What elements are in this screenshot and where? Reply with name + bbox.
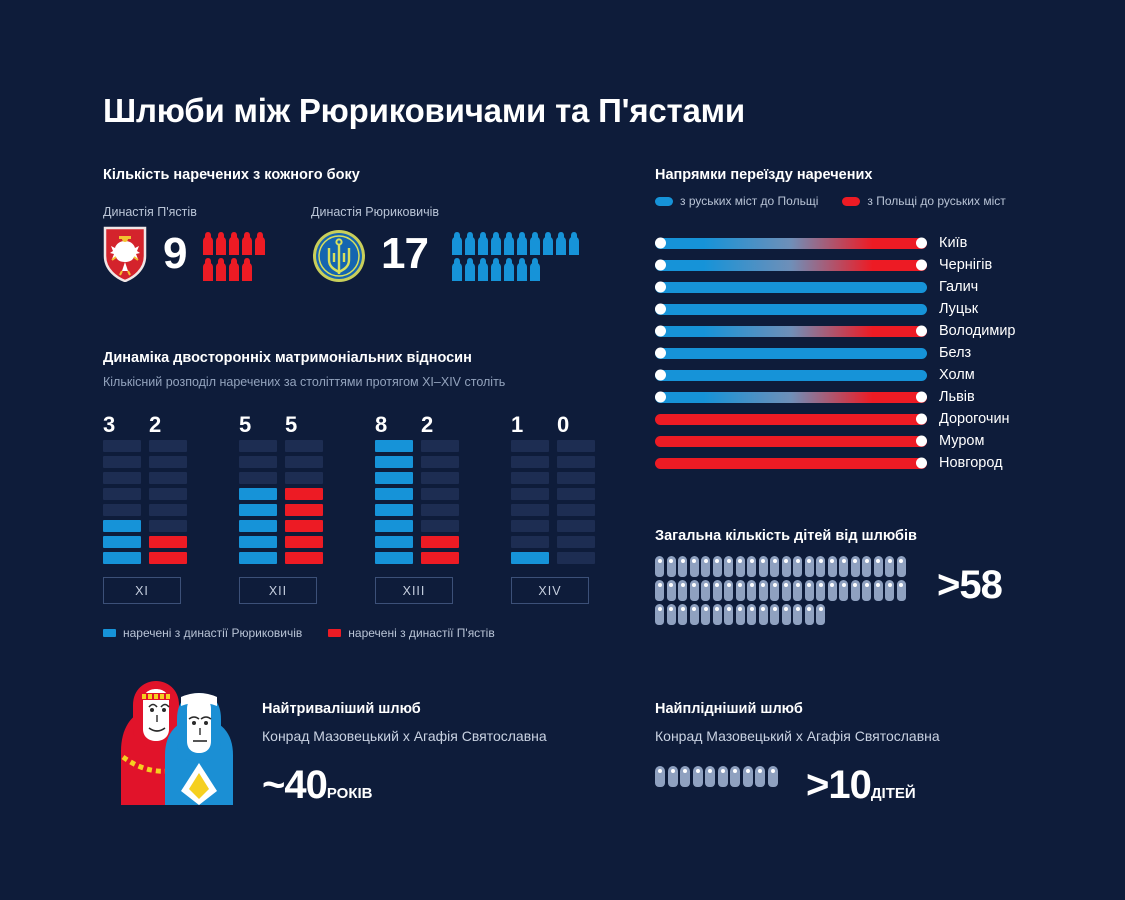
bar-segment xyxy=(103,520,141,532)
child-icon xyxy=(713,580,722,601)
child-icon xyxy=(782,604,791,625)
rurik-figure-pictogram xyxy=(452,232,585,281)
child-icon xyxy=(724,580,733,601)
child-icon xyxy=(736,604,745,625)
direction-bar-both xyxy=(655,326,927,337)
bar-segment xyxy=(149,472,187,484)
bar-segment xyxy=(149,504,187,516)
bar-segment xyxy=(557,472,595,484)
century-value-XII-rurik: 5 xyxy=(239,412,251,438)
bar-segment xyxy=(285,504,323,516)
child-icon xyxy=(816,556,825,577)
rurik-brides-count: 17 xyxy=(381,232,428,276)
child-icon xyxy=(759,604,768,625)
city-row: Львів xyxy=(655,390,975,404)
bride-figure-icon xyxy=(543,232,553,255)
bar-segment xyxy=(103,504,141,516)
century-bar-XIII-rurik xyxy=(375,440,413,564)
fertile-marriage-pictogram xyxy=(655,766,805,787)
bar-segment xyxy=(239,472,277,484)
legend-swatch-blue-icon xyxy=(103,629,116,637)
century-bar-XIV-rurik xyxy=(511,440,549,564)
child-icon xyxy=(793,604,802,625)
child-icon xyxy=(816,604,825,625)
fertile-marriage-value: >10 xyxy=(806,763,871,807)
bride-figure-icon xyxy=(504,258,514,281)
child-icon xyxy=(678,604,687,625)
legend-label-to-poland: з руських міст до Польщі xyxy=(680,194,818,208)
child-icon xyxy=(701,604,710,625)
bar-segment xyxy=(511,456,549,468)
bar-segment xyxy=(557,440,595,452)
child-icon xyxy=(816,580,825,601)
page-title: Шлюби між Рюриковичами та П'ястами xyxy=(103,92,745,130)
city-name: Володимир xyxy=(939,323,1015,339)
century-value-XIV-rurik: 1 xyxy=(511,412,523,438)
fertile-marriage-names: Конрад Мазовецький х Агафія Святославна xyxy=(655,728,940,744)
bar-segment xyxy=(421,488,459,500)
bar-segment xyxy=(421,504,459,516)
child-icon xyxy=(770,556,779,577)
bride-figure-icon xyxy=(216,232,226,255)
century-value-XI-rurik: 3 xyxy=(103,412,115,438)
bar-segment xyxy=(239,440,277,452)
origin-dot-icon xyxy=(655,260,666,271)
bar-segment xyxy=(239,552,277,564)
century-bar-XII-piast xyxy=(285,440,323,564)
city-name: Дорогочин xyxy=(939,411,1010,427)
child-icon xyxy=(736,580,745,601)
city-name: Белз xyxy=(939,345,971,361)
bar-segment xyxy=(421,536,459,548)
child-icon xyxy=(839,556,848,577)
bride-figure-icon xyxy=(465,258,475,281)
bride-figure-icon xyxy=(465,232,475,255)
bar-segment xyxy=(103,472,141,484)
bar-segment xyxy=(103,456,141,468)
bar-segment xyxy=(285,440,323,452)
bar-segment xyxy=(149,440,187,452)
child-icon xyxy=(862,556,871,577)
child-icon xyxy=(713,604,722,625)
child-icon xyxy=(874,580,883,601)
origin-dot-icon xyxy=(655,282,666,293)
bar-segment xyxy=(285,552,323,564)
child-icon xyxy=(755,766,765,787)
bride-figure-icon xyxy=(530,232,540,255)
bar-segment xyxy=(421,440,459,452)
bar-segment xyxy=(149,536,187,548)
bar-segment xyxy=(375,456,413,468)
child-icon xyxy=(655,556,664,577)
origin-dot-icon xyxy=(655,304,666,315)
child-icon xyxy=(782,556,791,577)
royal-couple-illustration xyxy=(103,679,243,810)
dynamics-legend: наречені з династії Рюриковичів наречені… xyxy=(103,626,495,640)
bar-segment xyxy=(103,536,141,548)
child-icon xyxy=(770,580,779,601)
city-row: Галич xyxy=(655,280,978,294)
child-icon xyxy=(805,580,814,601)
bar-segment xyxy=(557,520,595,532)
century-value-XII-piast: 5 xyxy=(285,412,297,438)
bar-segment xyxy=(375,552,413,564)
city-row: Дорогочин xyxy=(655,412,1010,426)
bar-segment xyxy=(375,520,413,532)
destination-dot-icon xyxy=(916,326,927,337)
bar-segment xyxy=(375,472,413,484)
bride-figure-icon xyxy=(478,232,488,255)
longest-marriage-value: ~40 xyxy=(262,763,327,807)
child-icon xyxy=(678,556,687,577)
bride-figure-icon xyxy=(530,258,540,281)
child-icon xyxy=(851,580,860,601)
child-icon xyxy=(667,556,676,577)
city-row: Муром xyxy=(655,434,984,448)
bar-segment xyxy=(375,504,413,516)
city-name: Муром xyxy=(939,433,984,449)
direction-bar-both xyxy=(655,238,927,249)
direction-bar-from-poland xyxy=(655,436,927,447)
bride-figure-icon xyxy=(203,232,213,255)
child-icon xyxy=(805,604,814,625)
bride-figure-icon xyxy=(478,258,488,281)
fertile-marriage-stat: >10ДІТЕЙ xyxy=(806,763,916,808)
child-icon xyxy=(743,766,753,787)
legend-swatch-red-icon xyxy=(328,629,341,637)
child-icon xyxy=(885,580,894,601)
child-icon xyxy=(747,604,756,625)
century-bar-XIV-piast xyxy=(557,440,595,564)
child-icon xyxy=(805,556,814,577)
child-icon xyxy=(747,556,756,577)
century-bar-XII-rurik xyxy=(239,440,277,564)
brides-section-heading: Кількість наречених з кожного боку xyxy=(103,167,360,183)
city-row: Чернігів xyxy=(655,258,992,272)
child-icon xyxy=(736,556,745,577)
city-name: Львів xyxy=(939,389,975,405)
bar-segment xyxy=(103,552,141,564)
bride-figure-icon xyxy=(216,258,226,281)
child-icon xyxy=(862,580,871,601)
bar-segment xyxy=(285,488,323,500)
longest-marriage-names: Конрад Мазовецький х Агафія Святославна xyxy=(262,728,547,744)
direction-bar-from-poland xyxy=(655,458,927,469)
century-value-XIII-rurik: 8 xyxy=(375,412,387,438)
child-icon xyxy=(690,580,699,601)
century-value-XIII-piast: 2 xyxy=(421,412,433,438)
legend-item-piast: наречені з династії П'ястів xyxy=(328,626,494,640)
origin-dot-icon xyxy=(655,238,666,249)
child-icon xyxy=(724,556,733,577)
child-icon xyxy=(851,556,860,577)
century-bar-XIII-piast xyxy=(421,440,459,564)
child-icon xyxy=(667,580,676,601)
city-row: Белз xyxy=(655,346,971,360)
direction-bar-to-poland xyxy=(655,348,927,359)
bride-figure-icon xyxy=(242,258,252,281)
century-value-XI-piast: 2 xyxy=(149,412,161,438)
piast-brides-count: 9 xyxy=(163,232,186,276)
rurik-dynasty-label: Династія Рюриковичів xyxy=(311,205,439,219)
bar-segment xyxy=(285,472,323,484)
bride-figure-icon xyxy=(255,232,265,255)
origin-dot-icon xyxy=(655,392,666,403)
fertile-marriage-unit: ДІТЕЙ xyxy=(871,785,916,802)
destination-dot-icon xyxy=(916,458,927,469)
bar-segment xyxy=(149,552,187,564)
bar-segment xyxy=(375,536,413,548)
direction-bar-both xyxy=(655,392,927,403)
origin-dot-icon xyxy=(655,348,666,359)
bar-segment xyxy=(285,536,323,548)
child-icon xyxy=(770,604,779,625)
child-icon xyxy=(897,556,906,577)
bar-segment xyxy=(149,520,187,532)
bar-segment xyxy=(511,504,549,516)
century-label-XII: XII xyxy=(239,577,317,604)
children-pictogram xyxy=(655,556,913,625)
direction-bar-to-poland xyxy=(655,282,927,293)
bride-figure-icon xyxy=(452,232,462,255)
bar-segment xyxy=(421,472,459,484)
legend-label-rurik: наречені з династії Рюриковичів xyxy=(123,626,302,640)
city-name: Київ xyxy=(939,235,967,251)
bar-segment xyxy=(103,440,141,452)
bar-segment xyxy=(103,488,141,500)
child-icon xyxy=(759,556,768,577)
infographic-canvas: Шлюби між Рюриковичами та П'ястами Кільк… xyxy=(0,0,1125,900)
bride-figure-icon xyxy=(491,258,501,281)
bar-segment xyxy=(511,440,549,452)
bar-segment xyxy=(149,456,187,468)
bar-segment xyxy=(511,536,549,548)
directions-heading: Напрямки переїзду наречених xyxy=(655,167,872,183)
century-value-XIV-piast: 0 xyxy=(557,412,569,438)
child-icon xyxy=(874,556,883,577)
legend-item-rurik: наречені з династії Рюриковичів xyxy=(103,626,302,640)
bride-figure-icon xyxy=(229,232,239,255)
bride-figure-icon xyxy=(242,232,252,255)
bar-segment xyxy=(239,488,277,500)
bar-segment xyxy=(557,488,595,500)
city-name: Чернігів xyxy=(939,257,992,273)
city-name: Холм xyxy=(939,367,975,383)
children-total-value: >58 xyxy=(937,563,1002,608)
city-row: Луцьк xyxy=(655,302,978,316)
century-label-XI: XI xyxy=(103,577,181,604)
bar-segment xyxy=(511,472,549,484)
child-icon xyxy=(839,580,848,601)
bride-figure-icon xyxy=(491,232,501,255)
legend-pill-red-icon xyxy=(842,197,860,206)
century-label-XIV: XIV xyxy=(511,577,589,604)
legend-label-from-poland: з Польщі до руських міст xyxy=(867,194,1005,208)
bar-segment xyxy=(421,520,459,532)
destination-dot-icon xyxy=(916,238,927,249)
bride-figure-icon xyxy=(452,258,462,281)
bar-segment xyxy=(239,536,277,548)
legend-item-to-poland: з руських міст до Польщі xyxy=(655,194,818,208)
child-icon xyxy=(690,556,699,577)
bride-figure-icon xyxy=(517,232,527,255)
direction-bar-to-poland xyxy=(655,370,927,381)
direction-bar-both xyxy=(655,260,927,271)
bar-segment xyxy=(421,456,459,468)
piast-dynasty-label: Династія П'ястів xyxy=(103,205,197,219)
century-bar-XI-rurik xyxy=(103,440,141,564)
city-name: Луцьк xyxy=(939,301,978,317)
bar-segment xyxy=(285,520,323,532)
child-icon xyxy=(828,580,837,601)
city-name: Галич xyxy=(939,279,978,295)
child-icon xyxy=(730,766,740,787)
origin-dot-icon xyxy=(655,326,666,337)
child-icon xyxy=(759,580,768,601)
bride-figure-icon xyxy=(556,232,566,255)
bar-segment xyxy=(511,552,549,564)
city-row: Київ xyxy=(655,236,967,250)
direction-bar-to-poland xyxy=(655,304,927,315)
ukrainian-trident-icon xyxy=(311,228,367,289)
destination-dot-icon xyxy=(916,392,927,403)
child-icon xyxy=(701,556,710,577)
longest-marriage-stat: ~40РОКІВ xyxy=(262,763,373,808)
child-icon xyxy=(693,766,703,787)
child-icon xyxy=(768,766,778,787)
child-icon xyxy=(718,766,728,787)
dynamics-heading: Динаміка двосторонніх матримоніальних ві… xyxy=(103,350,472,366)
century-bar-XI-piast xyxy=(149,440,187,564)
child-icon xyxy=(668,766,678,787)
child-icon xyxy=(782,580,791,601)
child-icon xyxy=(828,556,837,577)
child-icon xyxy=(747,580,756,601)
legend-item-from-poland: з Польщі до руських міст xyxy=(842,194,1005,208)
century-label-XIII: XIII xyxy=(375,577,453,604)
piast-figure-pictogram xyxy=(203,232,271,281)
bar-segment xyxy=(239,504,277,516)
bar-segment xyxy=(239,456,277,468)
direction-bar-from-poland xyxy=(655,414,927,425)
bar-segment xyxy=(557,536,595,548)
child-icon xyxy=(667,604,676,625)
bride-figure-icon xyxy=(517,258,527,281)
bar-segment xyxy=(375,440,413,452)
bar-segment xyxy=(285,456,323,468)
child-icon xyxy=(705,766,715,787)
bar-segment xyxy=(511,488,549,500)
bride-figure-icon xyxy=(229,258,239,281)
polish-eagle-shield-icon xyxy=(103,226,147,287)
child-icon xyxy=(655,766,665,787)
bar-segment xyxy=(557,456,595,468)
child-icon xyxy=(701,580,710,601)
child-icon xyxy=(655,604,664,625)
longest-marriage-unit: РОКІВ xyxy=(327,785,373,802)
child-icon xyxy=(897,580,906,601)
destination-dot-icon xyxy=(916,260,927,271)
bride-figure-icon xyxy=(569,232,579,255)
child-icon xyxy=(655,580,664,601)
city-row: Новгород xyxy=(655,456,1003,470)
child-icon xyxy=(885,556,894,577)
legend-label-piast: наречені з династії П'ястів xyxy=(348,626,494,640)
child-icon xyxy=(793,580,802,601)
bar-segment xyxy=(511,520,549,532)
longest-marriage-heading: Найтриваліший шлюб xyxy=(262,701,421,717)
bar-segment xyxy=(557,552,595,564)
city-row: Володимир xyxy=(655,324,1015,338)
bar-segment xyxy=(239,520,277,532)
city-row: Холм xyxy=(655,368,975,382)
child-icon xyxy=(713,556,722,577)
destination-dot-icon xyxy=(916,414,927,425)
destination-dot-icon xyxy=(916,436,927,447)
bride-figure-icon xyxy=(504,232,514,255)
child-icon xyxy=(724,604,733,625)
bar-segment xyxy=(375,488,413,500)
bride-figure-icon xyxy=(203,258,213,281)
child-icon xyxy=(690,604,699,625)
dynamics-subheading: Кількісний розподіл наречених за столітт… xyxy=(103,375,505,389)
directions-legend: з руських міст до Польщі з Польщі до рус… xyxy=(655,194,1006,208)
child-icon xyxy=(680,766,690,787)
bar-segment xyxy=(421,552,459,564)
city-name: Новгород xyxy=(939,455,1003,471)
bar-segment xyxy=(557,504,595,516)
children-heading: Загальна кількість дітей від шлюбів xyxy=(655,528,917,544)
legend-pill-blue-icon xyxy=(655,197,673,206)
child-icon xyxy=(678,580,687,601)
bar-segment xyxy=(149,488,187,500)
origin-dot-icon xyxy=(655,370,666,381)
child-icon xyxy=(793,556,802,577)
fertile-marriage-heading: Найплідніший шлюб xyxy=(655,701,803,717)
